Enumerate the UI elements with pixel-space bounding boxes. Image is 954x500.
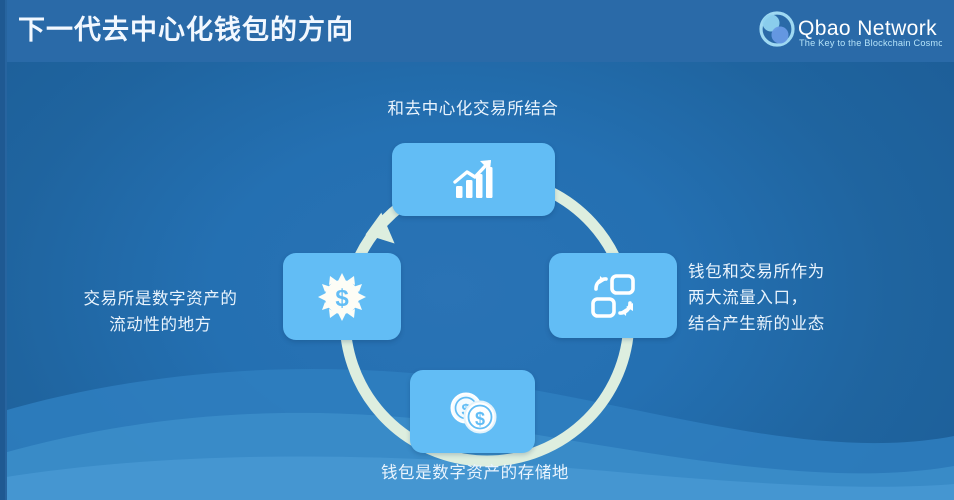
cycle-node-left[interactable]: $: [283, 253, 401, 340]
dollar-coins-icon: $ $: [445, 389, 501, 435]
label-right-line2: 两大流量入口，: [688, 285, 888, 311]
label-left: 交易所是数字资产的 流动性的地方: [48, 286, 273, 338]
exchange-swap-icon: [588, 273, 638, 319]
label-left-line1: 交易所是数字资产的: [48, 286, 273, 312]
svg-text:Qbao Network: Qbao Network: [798, 17, 937, 40]
qbao-circle-logo-icon: Qbao Network The Key to the Blockchain C…: [756, 10, 942, 52]
cycle-node-right[interactable]: [549, 253, 677, 338]
brand-logo: Qbao Network The Key to the Blockchain C…: [756, 10, 942, 52]
label-right: 钱包和交易所作为 两大流量入口， 结合产生新的业态: [688, 259, 888, 337]
label-right-line3: 结合产生新的业态: [688, 311, 888, 337]
slide-canvas: 下一代去中心化钱包的方向 Qbao Network The Key to the…: [0, 0, 954, 500]
bar-chart-growth-icon: [450, 158, 498, 202]
label-bottom: 钱包是数字资产的存储地: [300, 460, 650, 486]
svg-text:The Key to the Blockchain Cosm: The Key to the Blockchain Cosmos: [799, 38, 942, 48]
cycle-node-top[interactable]: [392, 143, 555, 216]
svg-text:$: $: [474, 409, 484, 429]
page-title: 下一代去中心化钱包的方向: [18, 8, 354, 52]
label-top-line1: 和去中心化交易所结合: [318, 96, 628, 122]
label-bottom-line1: 钱包是数字资产的存储地: [300, 460, 650, 486]
label-top: 和去中心化交易所结合: [318, 96, 628, 122]
dollar-badge-icon: $: [317, 272, 367, 322]
left-edge-strip-inner: [5, 0, 7, 500]
cycle-node-bottom[interactable]: $ $: [410, 370, 535, 453]
svg-text:$: $: [335, 285, 349, 312]
label-right-line1: 钱包和交易所作为: [688, 259, 888, 285]
label-left-line2: 流动性的地方: [48, 312, 273, 338]
